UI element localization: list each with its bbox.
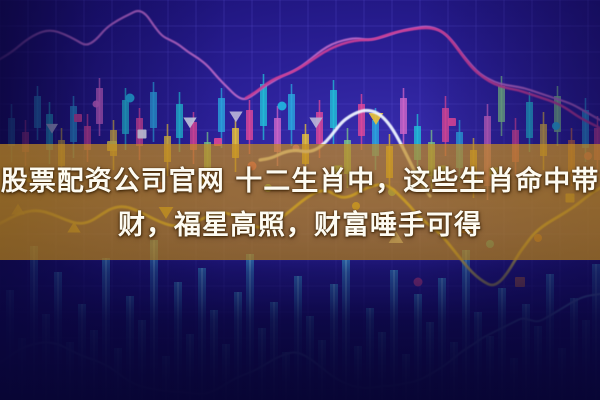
stock-chart-banner: 股票配资公司官网 十二生肖中，这些生肖命中带 财，福星高照，财富唾手可得	[0, 0, 600, 400]
headline-band	[0, 144, 600, 260]
